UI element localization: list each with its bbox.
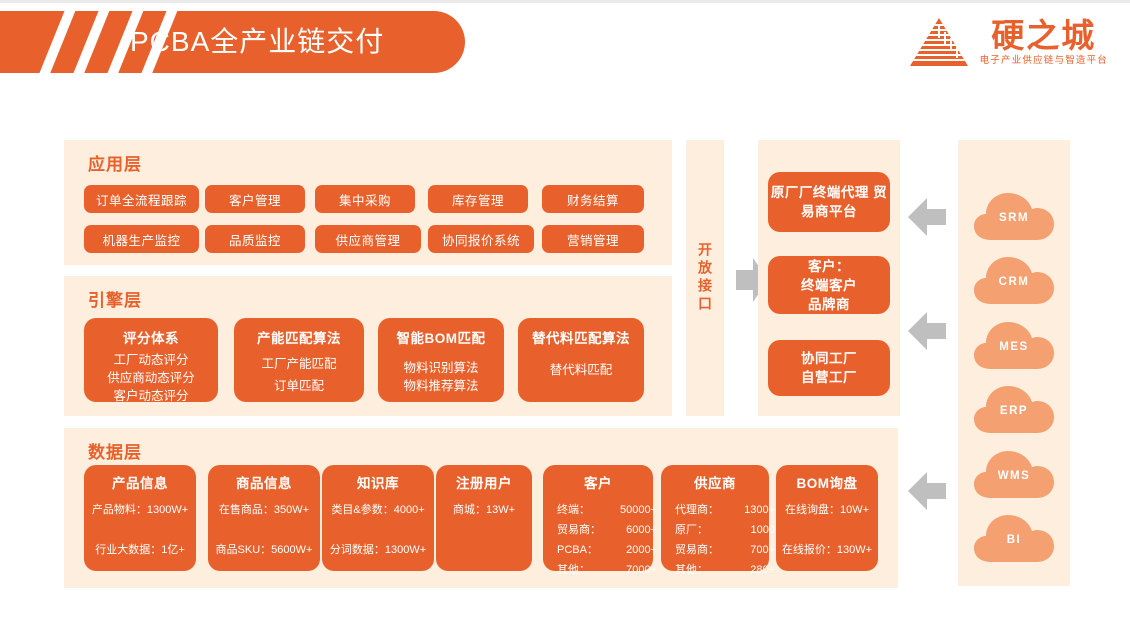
data-row: [92, 520, 188, 540]
system-cloud-label: CRM: [971, 252, 1057, 306]
data-row: 贸易商：700+: [669, 540, 761, 560]
data-card-title: 注册用户: [456, 474, 512, 494]
system-cloud-label: MES: [971, 317, 1057, 371]
data-row: PCBA：2000+: [551, 540, 645, 560]
data-row: 在售商品：350W+: [216, 500, 312, 520]
engine-card-title: 评分体系: [123, 329, 179, 348]
engine-card-title: 替代料匹配算法: [532, 329, 630, 348]
data-row: 其他：280+: [669, 560, 761, 580]
engine-card-line: 客户动态评分: [113, 387, 188, 405]
engine-card-line: 工厂动态评分: [113, 351, 188, 369]
role-box-line: 自营工厂: [801, 368, 857, 387]
data-card-title: 供应商: [694, 474, 736, 494]
role-box-line: 易商平台: [801, 202, 857, 221]
data-row: 行业大数据：1亿+: [92, 540, 188, 560]
banner-stripe-icon: [34, 11, 79, 73]
system-cloud-crm[interactable]: CRM: [971, 252, 1057, 306]
data-card-title: BOM询盘: [797, 474, 858, 494]
system-cloud-bi[interactable]: BI: [971, 510, 1057, 564]
role-box-line: 品牌商: [808, 295, 850, 314]
engine-card-title: 智能BOM匹配: [397, 329, 486, 348]
app-chip[interactable]: 协同报价系统: [428, 225, 534, 253]
data-row: 终端：50000+: [551, 500, 645, 520]
engine-card[interactable]: 产能匹配算法 工厂产能匹配 订单匹配: [234, 318, 364, 402]
data-card-title: 客户: [584, 474, 612, 494]
data-row: 其他：7000+: [551, 560, 645, 580]
app-chip[interactable]: 财务结算: [542, 185, 644, 213]
engine-card-line: 替代料匹配: [550, 361, 613, 379]
engine-card-title: 产能匹配算法: [257, 329, 341, 348]
logo-tagline: 电子产业供应链与智造平台: [980, 54, 1108, 68]
system-cloud-wms[interactable]: WMS: [971, 446, 1057, 500]
arrow-left-icon: [908, 472, 946, 510]
app-chip[interactable]: 客户管理: [205, 185, 305, 213]
top-hairline: [0, 0, 1130, 3]
app-chip[interactable]: 机器生产监控: [84, 225, 199, 253]
system-cloud-label: BI: [971, 510, 1057, 564]
page-title: PCBA全产业链交付: [130, 22, 384, 62]
brand-logo: 硬之城 电子产业供应链与智造平台: [908, 16, 1108, 68]
app-chip[interactable]: 品质监控: [205, 225, 305, 253]
system-cloud-label: ERP: [971, 381, 1057, 435]
mountain-logo-icon: [908, 16, 970, 68]
data-row: 商城：13W+: [444, 500, 524, 520]
data-card[interactable]: 供应商 代理商：1300+ 原厂：1000 贸易商：700+ 其他：280+: [661, 465, 769, 571]
role-box-line: 客户：: [808, 257, 850, 276]
engine-card-line: 供应商动态评分: [107, 369, 195, 387]
data-card[interactable]: 客户 终端：50000+ 贸易商：6000+ PCBA：2000+ 其他：700…: [543, 465, 653, 571]
role-box-line: 终端客户: [801, 276, 857, 295]
data-row: 产品物料：1300W+: [92, 500, 188, 520]
app-chip[interactable]: 集中采购: [315, 185, 415, 213]
data-layer-title: 数据层: [88, 438, 142, 463]
system-cloud-label: SRM: [971, 188, 1057, 242]
header-banner: PCBA全产业链交付: [0, 11, 465, 73]
data-row: [784, 520, 870, 540]
engine-layer-title: 引擎层: [88, 286, 142, 311]
app-chip[interactable]: 营销管理: [542, 225, 644, 253]
data-row: 类目&参数：4000+: [330, 500, 426, 520]
data-card[interactable]: 产品信息 产品物料：1300W+ 行业大数据：1亿+: [84, 465, 196, 571]
data-row: 分词数据：1300W+: [330, 540, 426, 560]
data-card-title: 知识库: [357, 474, 399, 494]
data-row: 在线询盘：10W+: [784, 500, 870, 520]
open-interface-label: 开放接口: [686, 140, 724, 416]
engine-card-line: 物料推荐算法: [403, 377, 478, 395]
data-card[interactable]: 商品信息 在售商品：350W+ 商品SKU：5600W+: [208, 465, 320, 571]
role-box[interactable]: 原厂厂终端代理 贸 易商平台: [768, 172, 890, 232]
system-cloud-label: WMS: [971, 446, 1057, 500]
system-cloud-srm[interactable]: SRM: [971, 188, 1057, 242]
data-card-title: 产品信息: [112, 474, 168, 494]
logo-name: 硬之城: [991, 18, 1096, 54]
banner-stripe-icon: [68, 11, 113, 73]
system-cloud-mes[interactable]: MES: [971, 317, 1057, 371]
data-row: 贸易商：6000+: [551, 520, 645, 540]
data-row: 原厂：1000: [669, 520, 761, 540]
arrow-left-icon: [908, 198, 946, 236]
role-box[interactable]: 协同工厂 自营工厂: [768, 340, 890, 396]
data-row: 商品SKU：5600W+: [216, 540, 312, 560]
data-row: 代理商：1300+: [669, 500, 761, 520]
role-box-line: 原厂厂终端代理 贸: [771, 183, 887, 202]
engine-card[interactable]: 智能BOM匹配 物料识别算法 物料推荐算法: [378, 318, 504, 402]
app-chip[interactable]: 供应商管理: [315, 225, 421, 253]
engine-card[interactable]: 替代料匹配算法 替代料匹配: [518, 318, 644, 402]
app-chip[interactable]: 订单全流程跟踪: [84, 185, 199, 213]
app-chip[interactable]: 库存管理: [428, 185, 528, 213]
data-card-title: 商品信息: [236, 474, 292, 494]
role-box-line: 协同工厂: [801, 349, 857, 368]
data-card[interactable]: 知识库 类目&参数：4000+ 分词数据：1300W+: [322, 465, 434, 571]
engine-card-line: 订单匹配: [274, 377, 324, 395]
data-row: [216, 520, 312, 540]
data-row: 在线报价：130W+: [784, 540, 870, 560]
data-row: [330, 520, 426, 540]
data-card[interactable]: BOM询盘 在线询盘：10W+ 在线报价：130W+: [776, 465, 878, 571]
engine-card-line: 工厂产能匹配: [261, 355, 336, 373]
engine-card[interactable]: 评分体系 工厂动态评分 供应商动态评分 客户动态评分: [84, 318, 218, 402]
open-interface-column: 开放接口: [686, 140, 724, 416]
data-card[interactable]: 注册用户 商城：13W+: [436, 465, 532, 571]
application-layer-title: 应用层: [88, 150, 142, 175]
system-cloud-erp[interactable]: ERP: [971, 381, 1057, 435]
engine-card-line: 物料识别算法: [403, 359, 478, 377]
role-box[interactable]: 客户： 终端客户 品牌商: [768, 256, 890, 314]
arrow-left-icon: [908, 312, 946, 350]
